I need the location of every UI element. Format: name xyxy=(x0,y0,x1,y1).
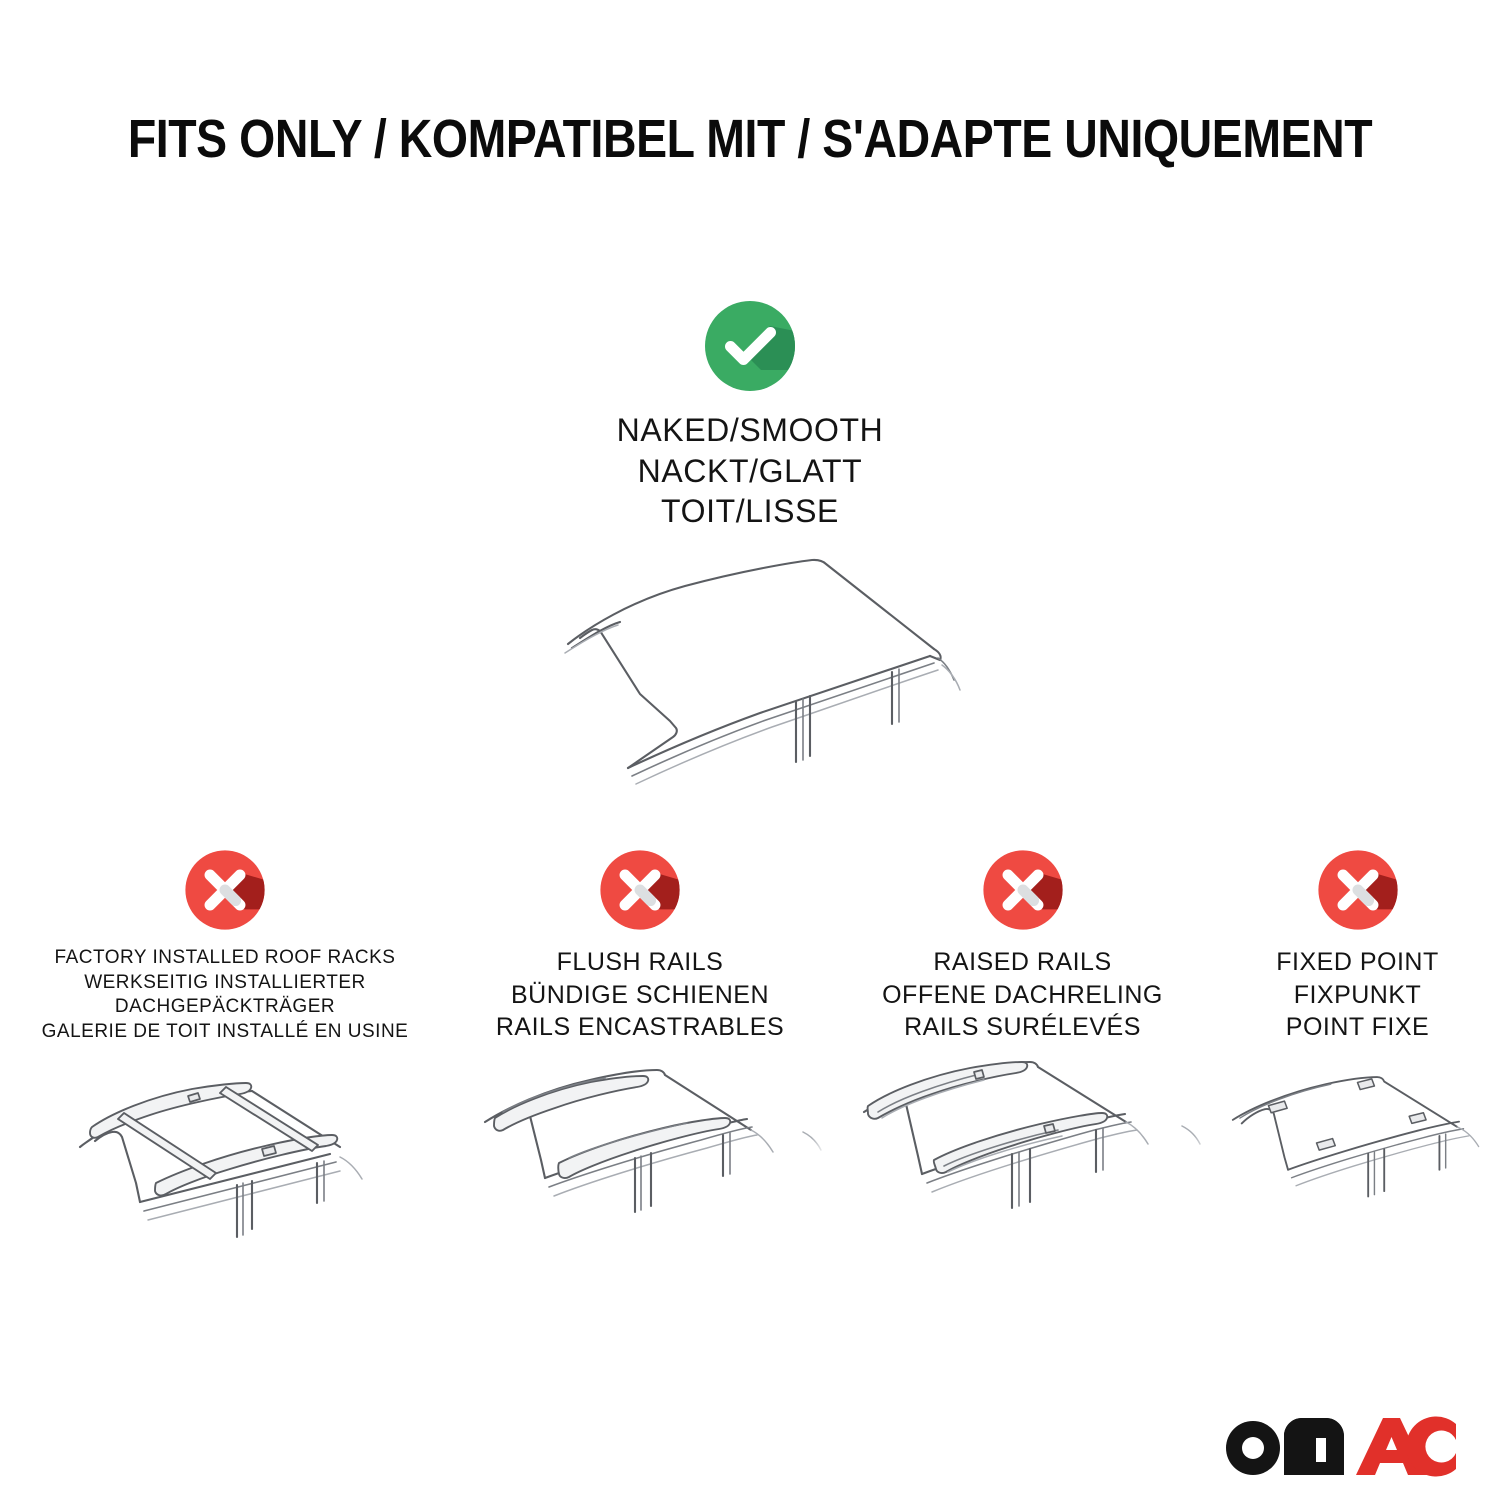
incompatible-labels-3: RAISED RAILS OFFENE DACHRELING RAILS SUR… xyxy=(830,946,1215,1044)
label-fr-4: POINT FIXE xyxy=(1215,1011,1500,1044)
label-en-3: RAISED RAILS xyxy=(830,946,1215,979)
incompatible-labels-4: FIXED POINT FIXPUNKT POINT FIXE xyxy=(1215,946,1500,1044)
label-de-1b: DACHGEPÄCKTRÄGER xyxy=(0,995,450,1020)
incompatible-labels-1: FACTORY INSTALLED ROOF RACKS WERKSEITIG … xyxy=(0,946,450,1045)
label-de-4: FIXPUNKT xyxy=(1215,979,1500,1012)
x-circle-icon xyxy=(1314,846,1402,934)
car-roof-factory-rack-illustration xyxy=(0,1061,450,1276)
incompatible-section-raised-rails: RAISED RAILS OFFENE DACHRELING RAILS SUR… xyxy=(830,846,1215,1276)
omac-logo: OMAC xyxy=(1220,1412,1460,1478)
label-de-3: OFFENE DACHRELING xyxy=(830,979,1215,1012)
label-de-1a: WERKSEITIG INSTALLIERTER xyxy=(0,971,450,996)
car-roof-flush-rails-illustration xyxy=(450,1060,830,1275)
check-badge-wrap xyxy=(490,296,1010,396)
label-de-2: BÜNDIGE SCHIENEN xyxy=(450,979,830,1012)
x-circle-icon xyxy=(181,846,269,934)
incompatible-section-flush-rails: FLUSH RAILS BÜNDIGE SCHIENEN RAILS ENCAS… xyxy=(450,846,830,1276)
x-badge-wrap-4 xyxy=(1215,846,1500,934)
page-title: FITS ONLY / KOMPATIBEL MIT / S'ADAPTE UN… xyxy=(105,108,1395,170)
label-en-2: FLUSH RAILS xyxy=(450,946,830,979)
label-fr-1: GALERIE DE TOIT INSTALLÉ EN USINE xyxy=(0,1020,450,1045)
car-roof-naked-smooth-illustration xyxy=(490,546,1010,816)
x-badge-wrap-3 xyxy=(830,846,1215,934)
car-roof-fixed-point-illustration xyxy=(1215,1060,1500,1275)
omac-logo-mark: OMAC xyxy=(1220,1412,1460,1478)
compatible-labels: NAKED/SMOOTH NACKT/GLATT TOIT/LISSE xyxy=(490,410,1010,532)
incompatible-section-factory-rack: FACTORY INSTALLED ROOF RACKS WERKSEITIG … xyxy=(0,846,450,1276)
car-roof-raised-rails-illustration xyxy=(830,1060,1215,1275)
x-circle-icon xyxy=(979,846,1067,934)
x-circle-icon xyxy=(596,846,684,934)
incompatible-sections: FACTORY INSTALLED ROOF RACKS WERKSEITIG … xyxy=(0,846,1500,1276)
check-circle-icon xyxy=(700,296,800,396)
compatible-label-fr: TOIT/LISSE xyxy=(490,491,1010,532)
label-en-4: FIXED POINT xyxy=(1215,946,1500,979)
incompatible-section-fixed-point: FIXED POINT FIXPUNKT POINT FIXE xyxy=(1215,846,1500,1276)
label-fr-3: RAILS SURÉLEVÉS xyxy=(830,1011,1215,1044)
compatible-section: NAKED/SMOOTH NACKT/GLATT TOIT/LISSE xyxy=(490,296,1010,816)
compatibility-infographic: FITS ONLY / KOMPATIBEL MIT / S'ADAPTE UN… xyxy=(0,0,1500,1500)
compatible-label-de: NACKT/GLATT xyxy=(490,451,1010,492)
label-fr-2: RAILS ENCASTRABLES xyxy=(450,1011,830,1044)
x-badge-wrap-2 xyxy=(450,846,830,934)
x-badge-wrap-1 xyxy=(0,846,450,934)
incompatible-labels-2: FLUSH RAILS BÜNDIGE SCHIENEN RAILS ENCAS… xyxy=(450,946,830,1044)
label-en-1: FACTORY INSTALLED ROOF RACKS xyxy=(0,946,450,971)
compatible-label-en: NAKED/SMOOTH xyxy=(490,410,1010,451)
